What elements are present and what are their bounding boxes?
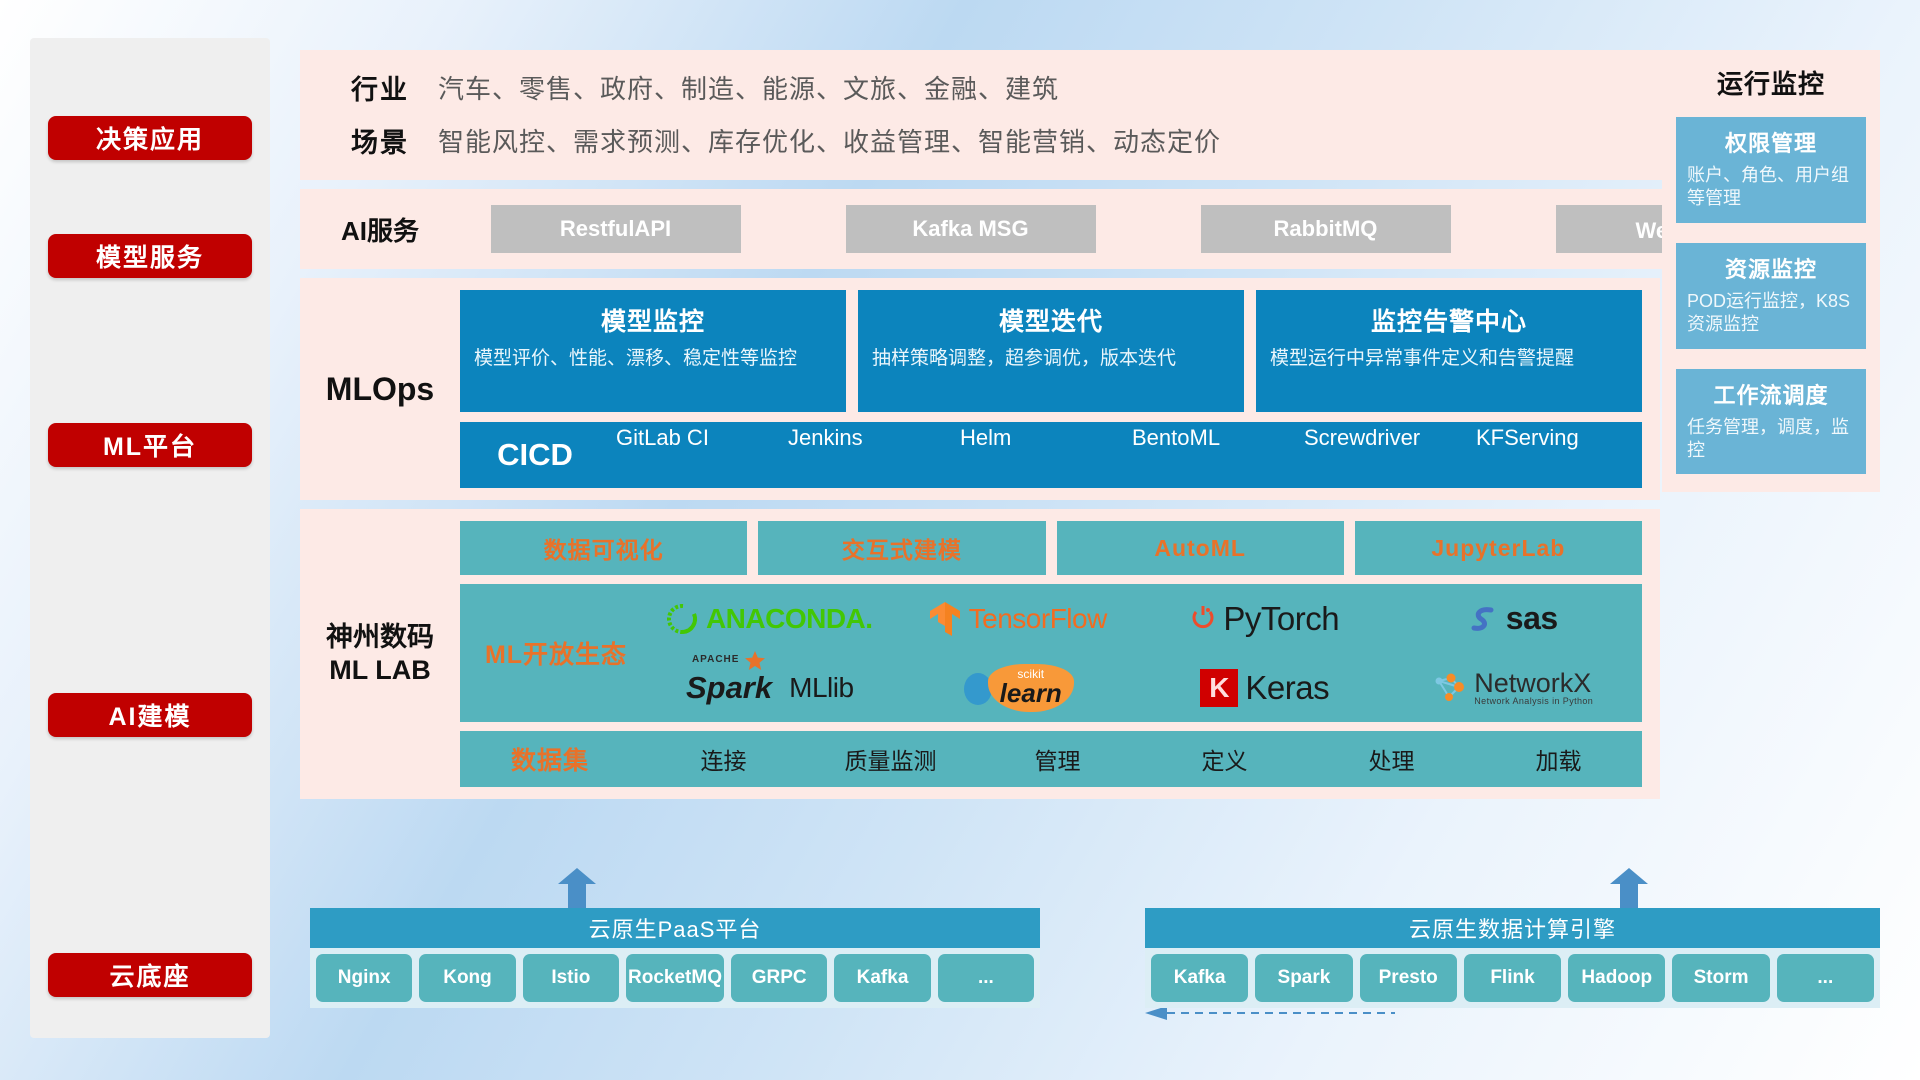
paas-chip-kong[interactable]: Kong: [419, 954, 515, 1002]
engine-chip-more[interactable]: ...: [1777, 954, 1874, 1002]
cloud-native-data-engine-group: 云原生数据计算引擎 Kafka Spark Presto Flink Hadoo…: [1145, 908, 1880, 1008]
cicd-items: GitLab CI Jenkins Helm BentoML Screwdriv…: [610, 426, 1642, 484]
chip-label: RabbitMQ: [1274, 216, 1378, 242]
card-title: 工作流调度: [1687, 378, 1855, 410]
main-column: 行业 汽车、零售、政府、制造、能源、文旅、金融、建筑 场景 智能风控、需求预测、…: [300, 50, 1880, 808]
cicd-item-kfserving[interactable]: KFServing: [1470, 426, 1642, 484]
industry-values: 汽车、零售、政府、制造、能源、文旅、金融、建筑: [438, 69, 1059, 106]
rail-item-decision-app[interactable]: 决策应用: [48, 116, 252, 160]
networkx-logo: NetworkX Network Analysis in Python: [1431, 670, 1593, 706]
data-engine-header: 云原生数据计算引擎: [1145, 908, 1880, 948]
monitor-card-workflow[interactable]: 工作流调度 任务管理，调度，监控: [1676, 369, 1866, 475]
keras-logo: K Keras: [1200, 669, 1329, 707]
mlops-label: MLOps: [300, 290, 460, 488]
rail-item-cloud-base[interactable]: 云底座: [48, 953, 252, 997]
ai-service-label: AI服务: [322, 211, 438, 248]
industry-label: 行业: [322, 68, 438, 107]
engine-chip-presto[interactable]: Presto: [1360, 954, 1457, 1002]
sas-logo: sas: [1467, 600, 1558, 637]
card-desc: POD运行监控，K8S资源监控: [1687, 290, 1855, 337]
mllab-tab-jupyterlab[interactable]: JupyterLab: [1355, 521, 1642, 575]
mllab-label: 神州数码 ML LAB: [300, 521, 460, 787]
industry-scenario-band: 行业 汽车、零售、政府、制造、能源、文旅、金融、建筑 场景 智能风控、需求预测、…: [300, 50, 1880, 180]
cicd-item-gitlab-ci[interactable]: GitLab CI: [610, 426, 782, 484]
pytorch-logo: PyTorch: [1190, 600, 1339, 638]
paas-chip-istio[interactable]: Istio: [523, 954, 619, 1002]
keras-wordmark: Keras: [1245, 669, 1329, 707]
dataset-items: 连接 质量监测 管理 定义 处理 加载: [640, 742, 1642, 776]
dataset-item-connect[interactable]: 连接: [640, 742, 807, 776]
anaconda-logo: ANACONDA.: [667, 603, 873, 635]
mllab-band: 神州数码 ML LAB 数据可视化 交互式建模 AutoML JupyterLa…: [300, 509, 1660, 799]
rail-item-ai-modeling[interactable]: AI建模: [48, 693, 252, 737]
mlops-card-model-monitoring[interactable]: 模型监控 模型评价、性能、漂移、稳定性等监控: [460, 290, 846, 412]
rail-item-label: ML平台: [103, 427, 197, 463]
mllab-label-line2: ML LAB: [329, 654, 431, 687]
eco-logo-grid: ANACONDA. TensorFlow: [646, 584, 1636, 722]
scikit-orange-blob: scikit learn: [988, 664, 1074, 712]
dataset-title: 数据集: [460, 741, 640, 777]
rail-item-model-service[interactable]: 模型服务: [48, 234, 252, 278]
learn-word: learn: [1000, 680, 1062, 706]
sas-icon: [1467, 603, 1499, 635]
mllab-tab-automl[interactable]: AutoML: [1057, 521, 1344, 575]
mlops-content: 模型监控 模型评价、性能、漂移、稳定性等监控 模型迭代 抽样策略调整，超参调优，…: [460, 290, 1660, 488]
rail-item-label: 模型服务: [96, 238, 204, 274]
engine-chip-kafka[interactable]: Kafka: [1151, 954, 1248, 1002]
cicd-title: CICD: [460, 437, 610, 473]
paas-chip-rocketmq[interactable]: RocketMQ: [626, 954, 724, 1002]
spark-star-icon: [744, 650, 766, 672]
keras-mark-icon: K: [1200, 669, 1238, 707]
mllab-content: 数据可视化 交互式建模 AutoML JupyterLab ML开放生态 ANA…: [460, 521, 1660, 787]
runtime-monitoring-title: 运行监控: [1676, 64, 1866, 101]
scenario-row: 场景 智能风控、需求预测、库存优化、收益管理、智能营销、动态定价: [322, 121, 1858, 160]
mllab-tab-data-visualization[interactable]: 数据可视化: [460, 521, 747, 575]
dataset-row: 数据集 连接 质量监测 管理 定义 处理 加载: [460, 731, 1642, 787]
mllab-label-line1: 神州数码: [326, 621, 434, 654]
left-rail: 决策应用 模型服务 ML平台 AI建模 云底座: [30, 38, 270, 1038]
card-title: 监控告警中心: [1270, 302, 1628, 338]
mllab-tabs: 数据可视化 交互式建模 AutoML JupyterLab: [460, 521, 1642, 575]
mllib-wordmark: MLlib: [789, 672, 853, 704]
mlops-cards: 模型监控 模型评价、性能、漂移、稳定性等监控 模型迭代 抽样策略调整，超参调优，…: [460, 290, 1642, 412]
paas-chip-more[interactable]: ...: [938, 954, 1034, 1002]
up-arrow-icon-paas: [558, 868, 596, 908]
networkx-wordmark: NetworkX: [1474, 670, 1593, 697]
ai-service-chip-kafka-msg[interactable]: Kafka MSG: [846, 205, 1096, 253]
sas-wordmark: sas: [1506, 600, 1558, 637]
dashed-arrow-left-icon: [1145, 1006, 1395, 1020]
ai-service-chip-rabbitmq[interactable]: RabbitMQ: [1201, 205, 1451, 253]
scenario-label: 场景: [322, 121, 438, 160]
card-desc: 抽样策略调整，超参调优，版本迭代: [872, 346, 1230, 371]
ai-service-chip-restfulapi[interactable]: RestfulAPI: [491, 205, 741, 253]
spark-apache-text: APACHE: [692, 654, 739, 665]
chip-label: RestfulAPI: [560, 216, 671, 242]
dataset-item-quality[interactable]: 质量监测: [807, 742, 974, 776]
card-desc: 账户、角色、用户组等管理: [1687, 164, 1855, 211]
dataset-item-define[interactable]: 定义: [1141, 742, 1308, 776]
paas-chip-grpc[interactable]: GRPC: [731, 954, 827, 1002]
anaconda-icon: [667, 603, 699, 635]
ml-open-ecosystem: ML开放生态 ANACONDA.: [460, 584, 1642, 722]
paas-chip-kafka[interactable]: Kafka: [834, 954, 930, 1002]
monitor-card-resource[interactable]: 资源监控 POD运行监控，K8S资源监控: [1676, 243, 1866, 349]
tensorflow-wordmark: TensorFlow: [969, 603, 1107, 635]
paas-chip-nginx[interactable]: Nginx: [316, 954, 412, 1002]
industry-row: 行业 汽车、零售、政府、制造、能源、文旅、金融、建筑: [322, 68, 1858, 107]
card-desc: 任务管理，调度，监控: [1687, 416, 1855, 463]
card-desc: 模型运行中异常事件定义和告警提醒: [1270, 346, 1628, 371]
pytorch-wordmark: PyTorch: [1223, 600, 1339, 638]
pytorch-icon: [1190, 602, 1216, 636]
paas-header: 云原生PaaS平台: [310, 908, 1040, 948]
cicd-item-screwdriver[interactable]: Screwdriver: [1298, 426, 1470, 484]
monitor-card-permission[interactable]: 权限管理 账户、角色、用户组等管理: [1676, 117, 1866, 223]
card-title: 资源监控: [1687, 252, 1855, 284]
rail-item-label: AI建模: [108, 697, 191, 733]
mlops-band: MLOps 模型监控 模型评价、性能、漂移、稳定性等监控 模型迭代 抽样策略调整…: [300, 278, 1660, 500]
paas-chips: Nginx Kong Istio RocketMQ GRPC Kafka ...: [310, 948, 1040, 1008]
cicd-item-bentoml[interactable]: BentoML: [1126, 426, 1298, 484]
scenario-values: 智能风控、需求预测、库存优化、收益管理、智能营销、动态定价: [438, 122, 1221, 159]
spark-wordmark: Spark: [686, 670, 772, 705]
chip-label: Kafka MSG: [912, 216, 1028, 242]
cloud-native-paas-group: 云原生PaaS平台 Nginx Kong Istio RocketMQ GRPC…: [310, 908, 1040, 1008]
card-desc: 模型评价、性能、漂移、稳定性等监控: [474, 346, 832, 371]
anaconda-wordmark: ANACONDA.: [706, 603, 873, 635]
cicd-item-helm[interactable]: Helm: [954, 426, 1126, 484]
networkx-tagline: Network Analysis in Python: [1474, 697, 1593, 706]
engine-chip-spark[interactable]: Spark: [1255, 954, 1352, 1002]
eco-label: ML开放生态: [466, 635, 646, 671]
tensorflow-logo: TensorFlow: [928, 600, 1107, 638]
card-title: 模型迭代: [872, 302, 1230, 338]
ai-service-items: RestfulAPI Kafka MSG RabbitMQ Web服务: [438, 205, 1858, 253]
mlops-card-alert-center[interactable]: 监控告警中心 模型运行中异常事件定义和告警提醒: [1256, 290, 1642, 412]
mllab-tab-interactive-modeling[interactable]: 交互式建模: [758, 521, 1045, 575]
up-arrow-icon-data-engine: [1610, 868, 1648, 908]
dataset-item-manage[interactable]: 管理: [974, 742, 1141, 776]
mlops-card-model-iteration[interactable]: 模型迭代 抽样策略调整，超参调优，版本迭代: [858, 290, 1244, 412]
engine-chip-storm[interactable]: Storm: [1672, 954, 1769, 1002]
cloud-foundation-zone: 云原生PaaS平台 Nginx Kong Istio RocketMQ GRPC…: [300, 888, 1880, 1038]
engine-chip-hadoop[interactable]: Hadoop: [1568, 954, 1665, 1002]
dataset-item-process[interactable]: 处理: [1308, 742, 1475, 776]
rail-item-label: 决策应用: [96, 120, 204, 156]
scikit-learn-logo: scikit learn: [961, 664, 1074, 712]
ai-service-band: AI服务 RestfulAPI Kafka MSG RabbitMQ Web服务: [300, 189, 1880, 269]
spark-mllib-logo: APACHE Spark MLlib: [686, 670, 854, 706]
runtime-monitoring-column: 运行监控 权限管理 账户、角色、用户组等管理 资源监控 POD运行监控，K8S资…: [1662, 50, 1880, 492]
card-title: 权限管理: [1687, 126, 1855, 158]
cicd-item-jenkins[interactable]: Jenkins: [782, 426, 954, 484]
engine-chip-flink[interactable]: Flink: [1464, 954, 1561, 1002]
data-engine-chips: Kafka Spark Presto Flink Hadoop Storm ..…: [1145, 948, 1880, 1008]
tensorflow-icon: [928, 600, 962, 638]
rail-item-label: 云底座: [109, 957, 190, 993]
rail-item-ml-platform[interactable]: ML平台: [48, 423, 252, 467]
card-title: 模型监控: [474, 302, 832, 338]
dataset-item-load[interactable]: 加载: [1475, 742, 1642, 776]
cicd-bar: CICD GitLab CI Jenkins Helm BentoML Scre…: [460, 422, 1642, 488]
networkx-graph-icon: [1431, 671, 1467, 705]
